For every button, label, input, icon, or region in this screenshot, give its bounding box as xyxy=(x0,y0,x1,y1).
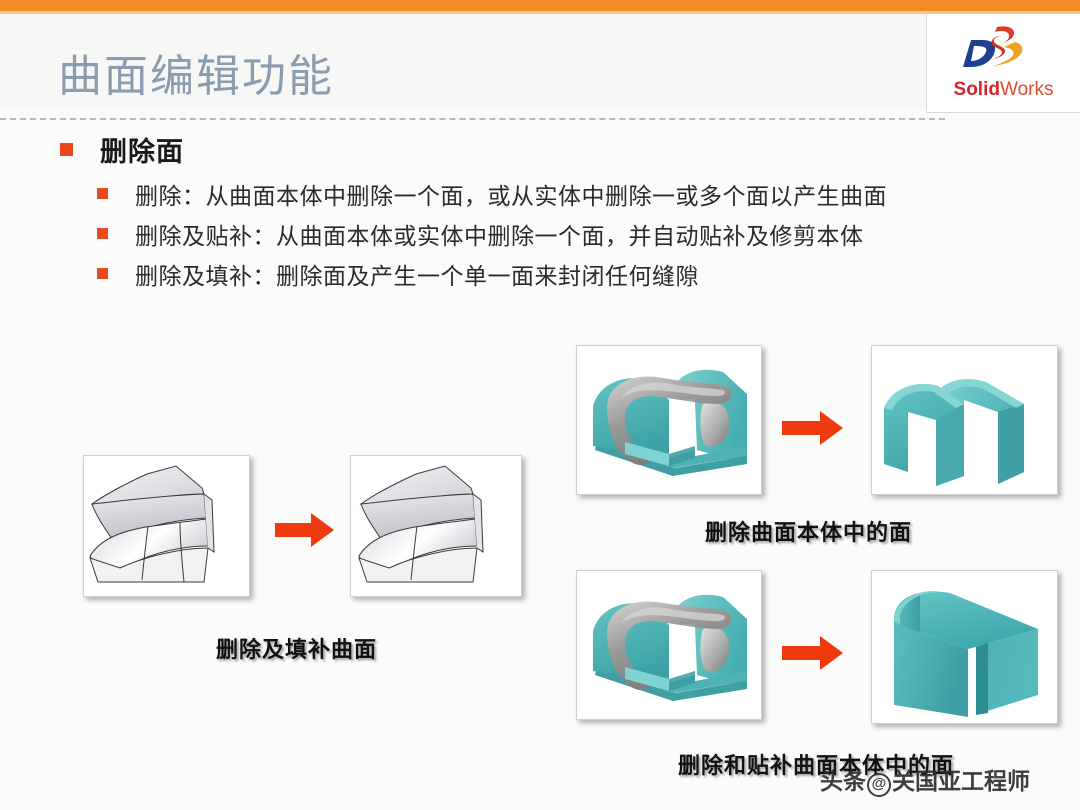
bullet-item-2: 删除及贴补：从曲面本体或实体中删除一个面，并自动贴补及修剪本体 xyxy=(0,217,1080,251)
figure-delete-patch-after xyxy=(871,570,1058,724)
title-divider xyxy=(0,118,945,120)
bullet-item-1: 删除：从曲面本体中删除一个面，或从实体中删除一或多个面以产生曲面 xyxy=(0,177,1080,211)
bullet-square-icon xyxy=(97,268,108,279)
bullet-square-icon xyxy=(97,188,108,199)
solidworks-wordmark: SolidWorks xyxy=(927,79,1080,101)
watermark: 头条@关国亚工程师 xyxy=(820,762,1030,797)
ds-swoosh-icon xyxy=(957,24,1047,72)
page-title: 曲面编辑功能 xyxy=(58,40,334,104)
arrow-delete-fill xyxy=(275,512,335,548)
logo-word-solid: Solid xyxy=(954,79,1000,100)
slide-header: 曲面编辑功能 xyxy=(0,14,1080,110)
logo-word-works: Works xyxy=(1000,79,1053,100)
top-accent-band xyxy=(0,0,1080,11)
figure-delete-fill-before xyxy=(83,455,250,597)
bullet-item-3: 删除及填补：删除面及产生一个单一面来封闭任何缝隙 xyxy=(0,257,1080,291)
arrow-delete-patch xyxy=(782,635,844,671)
watermark-suffix: 关国亚工程师 xyxy=(892,768,1030,794)
solidworks-logo: SolidWorks xyxy=(926,14,1080,113)
watermark-at-icon: @ xyxy=(867,773,891,797)
arrow-delete-face xyxy=(782,410,844,446)
bullet-heading: 删除面 xyxy=(0,130,1080,169)
caption-delete-fill: 删除及填补曲面 xyxy=(216,632,377,664)
bullet-square-icon xyxy=(60,143,73,156)
bullet-list: 删除面 删除：从曲面本体中删除一个面，或从实体中删除一或多个面以产生曲面 删除及… xyxy=(0,130,1080,297)
caption-delete-face: 删除曲面本体中的面 xyxy=(705,515,912,547)
bullet-item-label: 删除及填补：删除面及产生一个单一面来封闭任何缝隙 xyxy=(135,264,699,289)
watermark-prefix: 头条 xyxy=(820,768,866,794)
bullet-item-label: 删除：从曲面本体中删除一个面，或从实体中删除一或多个面以产生曲面 xyxy=(135,184,887,209)
figure-delete-patch-before xyxy=(576,570,762,720)
bullet-heading-label: 删除面 xyxy=(100,137,184,167)
bullet-item-label: 删除及贴补：从曲面本体或实体中删除一个面，并自动贴补及修剪本体 xyxy=(135,224,864,249)
figure-delete-fill-after xyxy=(350,455,522,597)
bullet-square-icon xyxy=(97,228,108,239)
figure-delete-face-after xyxy=(871,345,1058,495)
slide-canvas: 曲面编辑功能 SolidWorks 删除面 删 xyxy=(0,0,1080,810)
figure-delete-face-before xyxy=(576,345,762,495)
